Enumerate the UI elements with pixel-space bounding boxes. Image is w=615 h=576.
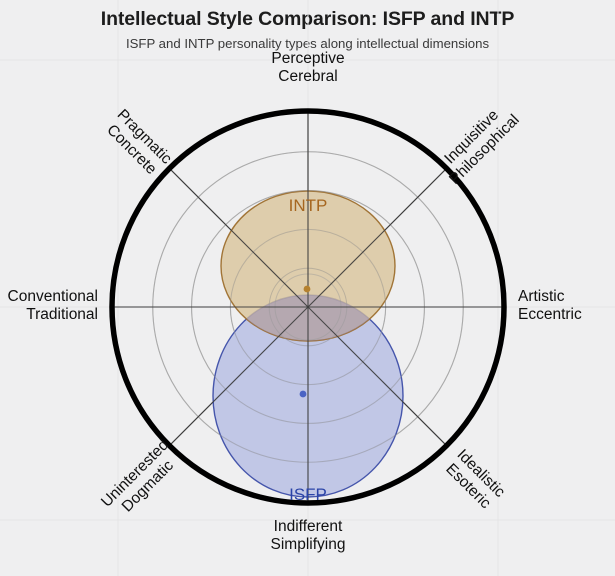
axis-label-line2: Cerebral bbox=[278, 68, 337, 85]
series-centroid-isfp[interactable] bbox=[300, 391, 307, 398]
axis-label-line2: Eccentric bbox=[518, 306, 582, 323]
axis-label-northwest: PragmaticConcrete bbox=[101, 106, 175, 180]
radar-chart: INTP ISFP PerceptiveCerebralInquisitiveP… bbox=[0, 0, 615, 576]
series-label-isfp: ISFP bbox=[289, 485, 327, 504]
axis-label-west: ConventionalTraditional bbox=[8, 288, 98, 323]
series-label-intp: INTP bbox=[289, 196, 328, 215]
axis-label-south: IndifferentSimplifying bbox=[271, 518, 346, 553]
axis-label-line2: Traditional bbox=[26, 306, 98, 323]
axis-label-east: ArtisticEccentric bbox=[518, 288, 582, 323]
series-centroid-intp[interactable] bbox=[304, 286, 311, 293]
chart-page: Intellectual Style Comparison: ISFP and … bbox=[0, 0, 615, 576]
axis-label-line2: Simplifying bbox=[271, 536, 346, 553]
axis-label-line1: Indifferent bbox=[274, 518, 343, 535]
axis-label-line1: Conventional bbox=[8, 288, 98, 305]
axis-label-line1: Perceptive bbox=[271, 50, 344, 67]
axis-label-north: PerceptiveCerebral bbox=[271, 50, 344, 85]
axis-label-line1: Artistic bbox=[518, 288, 565, 305]
axis-label-northeast: InquisitivePhilosophical bbox=[433, 99, 522, 188]
